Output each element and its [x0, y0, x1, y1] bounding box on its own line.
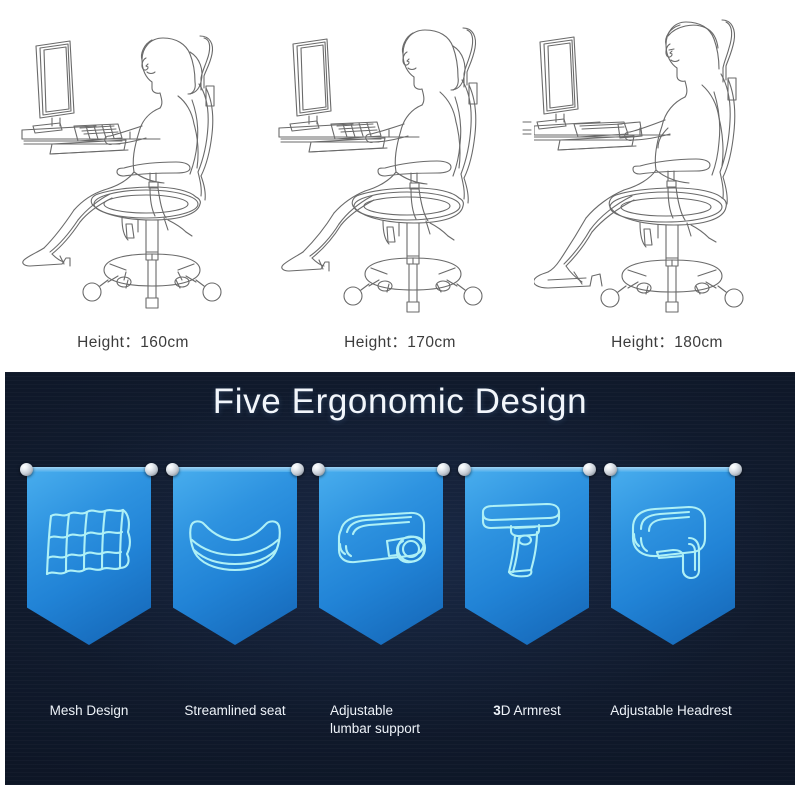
pennant-top-edge — [173, 467, 297, 472]
feature-banner-lumbar-support[interactable] — [311, 458, 451, 658]
pin-ball-right-icon — [291, 463, 304, 476]
caption-text: Streamlined seat — [184, 703, 285, 718]
pin-ball-right-icon — [437, 463, 450, 476]
pin-ball-right-icon — [583, 463, 596, 476]
mesh-grid-icon — [33, 498, 145, 586]
product-infographic-page: Height：160cm — [0, 0, 800, 800]
pennant-top-edge — [611, 467, 735, 472]
caption-streamlined-seat: Streamlined seat — [157, 702, 313, 720]
posture-figure-160: Height：160cm — [0, 0, 266, 372]
feature-banner-mesh-design[interactable] — [19, 458, 159, 658]
height-label-160: Height：160cm — [0, 330, 266, 352]
caption-text: Adjustable Headrest — [610, 703, 732, 718]
caption-text-line1: Adjustable — [330, 702, 460, 720]
caption-lumbar-support: Adjustable lumbar support — [330, 702, 460, 738]
caption-text-line2: lumbar support — [330, 720, 460, 738]
feature-caption-row: Mesh Design Streamlined seat Adjustable … — [5, 702, 795, 772]
posture-figure-170: Height：170cm — [267, 0, 533, 372]
posture-figure-180: Height：180cm — [534, 0, 800, 372]
feature-banner-streamlined-seat[interactable] — [165, 458, 305, 658]
pin-ball-left-icon — [312, 463, 325, 476]
caption-text: D Armrest — [501, 703, 561, 718]
caption-adjustable-headrest: Adjustable Headrest — [581, 702, 761, 720]
headrest-icon — [617, 498, 729, 586]
seated-woman-desk-icon — [0, 8, 266, 313]
caption-text: Mesh Design — [50, 703, 129, 718]
armrest-icon — [471, 498, 583, 586]
pennant-top-edge — [319, 467, 443, 472]
pin-ball-left-icon — [20, 463, 33, 476]
seated-man-desk-icon — [534, 8, 800, 313]
ergonomic-features-section: Five Ergonomic Design — [5, 372, 795, 785]
caption-mesh-design: Mesh Design — [11, 702, 167, 720]
seated-woman-desk-icon — [267, 8, 533, 313]
posture-illustration-section: Height：160cm — [0, 0, 800, 372]
pin-ball-left-icon — [604, 463, 617, 476]
section-headline: Five Ergonomic Design — [5, 382, 795, 422]
pin-ball-left-icon — [458, 463, 471, 476]
pin-ball-left-icon — [166, 463, 179, 476]
feature-banner-3d-armrest[interactable] — [457, 458, 597, 658]
feature-banner-headrest[interactable] — [603, 458, 743, 658]
pennant-top-edge — [27, 467, 151, 472]
height-label-170: Height：170cm — [267, 330, 533, 352]
height-label-180: Height：180cm — [534, 330, 800, 352]
caption-bold-prefix: 3 — [493, 703, 501, 718]
pennant-top-edge — [465, 467, 589, 472]
feature-banner-row — [5, 458, 795, 658]
pin-ball-right-icon — [145, 463, 158, 476]
lumbar-support-icon — [325, 498, 437, 586]
pin-ball-right-icon — [729, 463, 742, 476]
seat-cushion-icon — [179, 498, 291, 586]
